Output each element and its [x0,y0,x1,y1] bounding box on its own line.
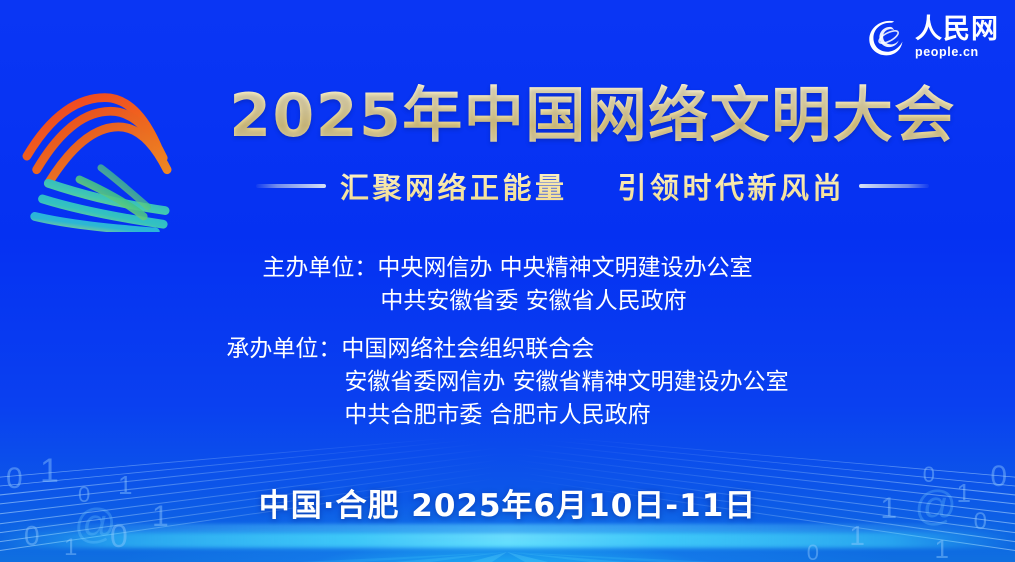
co-organizers: 承办单位：中国网络社会组织联合会 安徽省委网信办 安徽省精神文明建设办公室 中共… [226,333,788,431]
organizer-line: 承办单位：中国网络社会组织联合会 [226,333,788,366]
people-cn-wordmark: 人民网 people.cn [915,16,999,59]
people-cn-globe-icon [861,14,907,60]
brand-name-en: people.cn [915,46,979,59]
subtitle-row: 汇聚网络正能量 引领时代新风尚 [256,165,929,207]
subtitle-rule-right [859,184,929,188]
binary-digit: 1 [935,534,949,562]
brand-name-cn: 人民网 [915,16,999,43]
floor-rays [300,552,715,562]
conference-poster: 0 1 0 1 1 0 1 0 @ 0 1 0 1 0 1 0 1 @ 人民网 … [0,0,1015,562]
binary-digit: 0 [807,540,819,562]
host-organizers: 主办单位：中央网信办 中央精神文明建设办公室 中共安徽省委 安徽省人民政府 [262,252,752,317]
venue-and-date: 中国·合肥 2025年6月10日-11日 [0,480,1015,525]
organizer-line: 主办单位：中央网信办 中央精神文明建设办公室 [262,252,752,285]
organizer-line: 安徽省委网信办 安徽省精神文明建设办公室 [226,366,788,399]
subtitle-right: 引领时代新风尚 [618,165,846,207]
organizer-section: 主办单位：中央网信办 中央精神文明建设办公室 中共安徽省委 安徽省人民政府 承办… [0,252,1015,431]
title-block: 2025年中国网络文明大会 汇聚网络正能量 引领时代新风尚 [170,84,1015,207]
subtitle-left: 汇聚网络正能量 [340,165,568,207]
subtitle-rule-left [256,184,326,188]
conference-emblem-icon [18,86,176,232]
page-title: 2025年中国网络文明大会 [225,84,960,149]
organizer-line: 中共合肥市委 合肥市人民政府 [226,399,788,432]
people-cn-brand[interactable]: 人民网 people.cn [861,14,999,60]
organizer-line: 中共安徽省委 安徽省人民政府 [262,285,752,318]
title-row: 2025年中国网络文明大会 汇聚网络正能量 引领时代新风尚 [0,84,1015,232]
